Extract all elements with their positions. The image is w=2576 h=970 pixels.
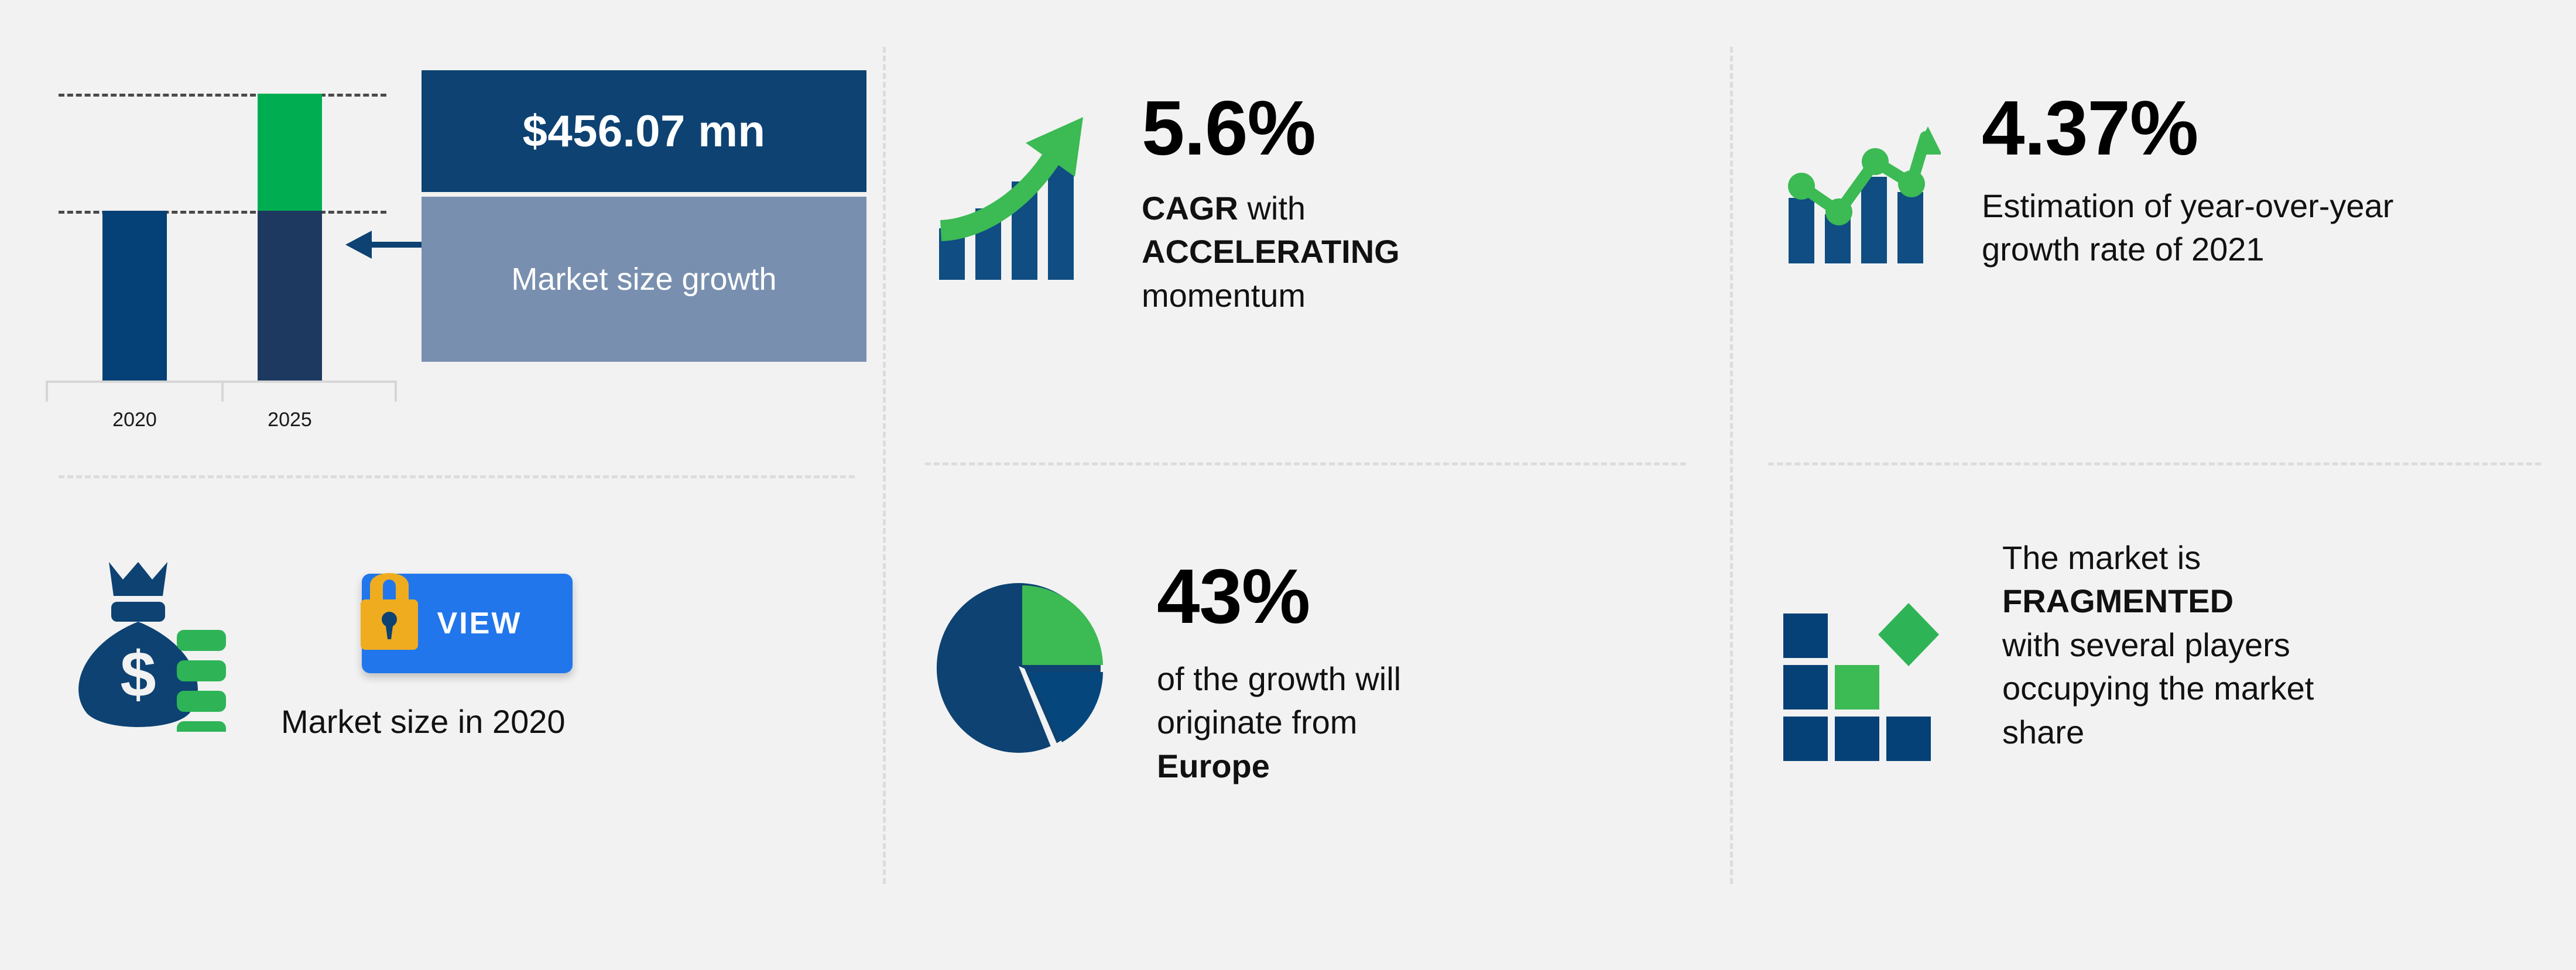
region-value: 43% (1157, 556, 1401, 637)
fragmented-squares-icon (1780, 592, 1950, 765)
fragmentation-line-3: with several players (2002, 623, 2314, 667)
market-size-2020-caption: Market size in 2020 (281, 702, 566, 741)
cagr-value: 5.6% (1142, 88, 1400, 169)
horizontal-divider-col1 (59, 475, 855, 478)
yoy-card: 4.37% Estimation of year-over-year growt… (1783, 88, 2556, 272)
view-button-label: VIEW (437, 606, 522, 641)
axis-tick-middle (221, 381, 224, 402)
callout-value: $456.07 mn (523, 106, 766, 157)
infographic-board: 2020 2025 $456.07 mn Market size growth (0, 0, 2576, 970)
gridline-upper (59, 94, 386, 97)
market-size-callout: $456.07 mn Market size growth (422, 70, 866, 362)
vertical-divider-right (1730, 47, 1733, 884)
fragmentation-emphasis: FRAGMENTED (2002, 582, 2234, 619)
cagr-momentum-word: momentum (1142, 277, 1306, 314)
yoy-value: 4.37% (1982, 88, 2462, 169)
cagr-with: with (1238, 190, 1306, 227)
callout-value-box: $456.07 mn (422, 70, 866, 192)
cagr-label: CAGR (1142, 190, 1238, 227)
callout-arrow-icon (340, 227, 433, 265)
bar-2020 (102, 211, 167, 381)
region-name: Europe (1157, 748, 1270, 784)
axis-tick-end (395, 381, 397, 402)
vertical-divider-left (883, 47, 886, 884)
pie-chart-icon (937, 577, 1107, 756)
yoy-description: Estimation of year-over-year growth rate… (1982, 184, 2462, 272)
bar-2025 (258, 94, 322, 381)
fragmentation-text-block: The market is FRAGMENTED with several pl… (2002, 536, 2314, 754)
bar-2025-base (258, 211, 322, 381)
yoy-text-block: 4.37% Estimation of year-over-year growt… (1982, 88, 2462, 272)
fragmentation-line-5: share (2002, 711, 2314, 754)
growth-arrow-bar-chart-icon (937, 104, 1095, 283)
axis-label-2025: 2025 (231, 409, 348, 431)
line-bar-combo-chart-icon (1783, 111, 1941, 272)
fragmentation-line-1: The market is (2002, 536, 2314, 580)
svg-text:$: $ (120, 639, 156, 711)
fragmentation-line-4: occupying the market (2002, 667, 2314, 710)
region-text-block: 43% of the growth will originate from Eu… (1157, 556, 1401, 788)
fragmentation-card: The market is FRAGMENTED with several pl… (1780, 527, 2558, 765)
money-bag-icon: $ (53, 556, 228, 735)
axis-label-2020: 2020 (76, 409, 193, 431)
cagr-text-block: 5.6% CAGR with ACCELERATING momentum (1142, 88, 1400, 317)
horizontal-divider-col2 (925, 462, 1686, 465)
callout-caption-box: Market size growth (422, 197, 866, 362)
bar-2020-base (102, 211, 167, 381)
bar-2025-growth (258, 94, 322, 211)
region-description: of the growth will originate from Europe (1157, 657, 1401, 788)
padlock-icon (351, 557, 427, 660)
axis-tick-start (46, 381, 48, 402)
region-line-1: of the growth will (1157, 657, 1401, 701)
cagr-card: 5.6% CAGR with ACCELERATING momentum (937, 88, 1698, 317)
horizontal-divider-col3 (1768, 462, 2541, 465)
market-size-growth-card: 2020 2025 $456.07 mn Market size growth (35, 70, 855, 451)
cagr-momentum-emphasis: ACCELERATING (1142, 233, 1400, 270)
callout-caption: Market size growth (511, 259, 776, 300)
cagr-description: CAGR with ACCELERATING momentum (1142, 187, 1400, 317)
region-growth-card: 43% of the growth will originate from Eu… (937, 556, 1710, 788)
region-line-2: originate from (1157, 701, 1401, 744)
